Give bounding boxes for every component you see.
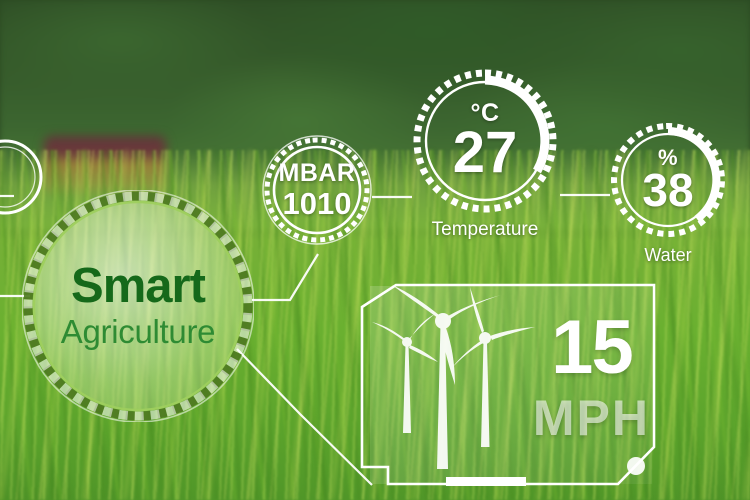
screenshot-stage: Smart Agriculture MBAR 1010 °C 27 Temper… (0, 0, 750, 500)
badge-text: Smart Agriculture (22, 190, 254, 422)
wind-speed-unit: MPH (533, 393, 650, 443)
gauge-pressure-unit: MBAR (279, 161, 356, 186)
gauge-pressure-value: 1010 (283, 188, 352, 219)
brand-subtitle: Agriculture (61, 315, 215, 350)
gauge-temperature[interactable]: °C 27 Temperature (411, 67, 559, 215)
smart-agriculture-badge[interactable]: Smart Agriculture (22, 190, 254, 422)
gauge-pressure[interactable]: MBAR 1010 (263, 136, 371, 244)
gauge-water-readout: % 38 (609, 121, 727, 239)
gauge-pressure-readout: MBAR 1010 (263, 136, 371, 244)
brand-title: Smart (71, 262, 205, 311)
wind-speed-panel[interactable]: 15 MPH (358, 281, 664, 500)
gauge-temperature-readout: °C 27 (411, 67, 559, 215)
gauge-water-value: 38 (642, 167, 693, 213)
gauge-temperature-label: Temperature (411, 219, 559, 241)
wind-readout: 15 MPH (533, 313, 650, 443)
gauge-water[interactable]: % 38 Water (609, 121, 727, 239)
gauge-water-label: Water (609, 245, 727, 266)
wind-speed-value: 15 (533, 313, 650, 383)
gauge-temperature-value: 27 (453, 124, 518, 182)
